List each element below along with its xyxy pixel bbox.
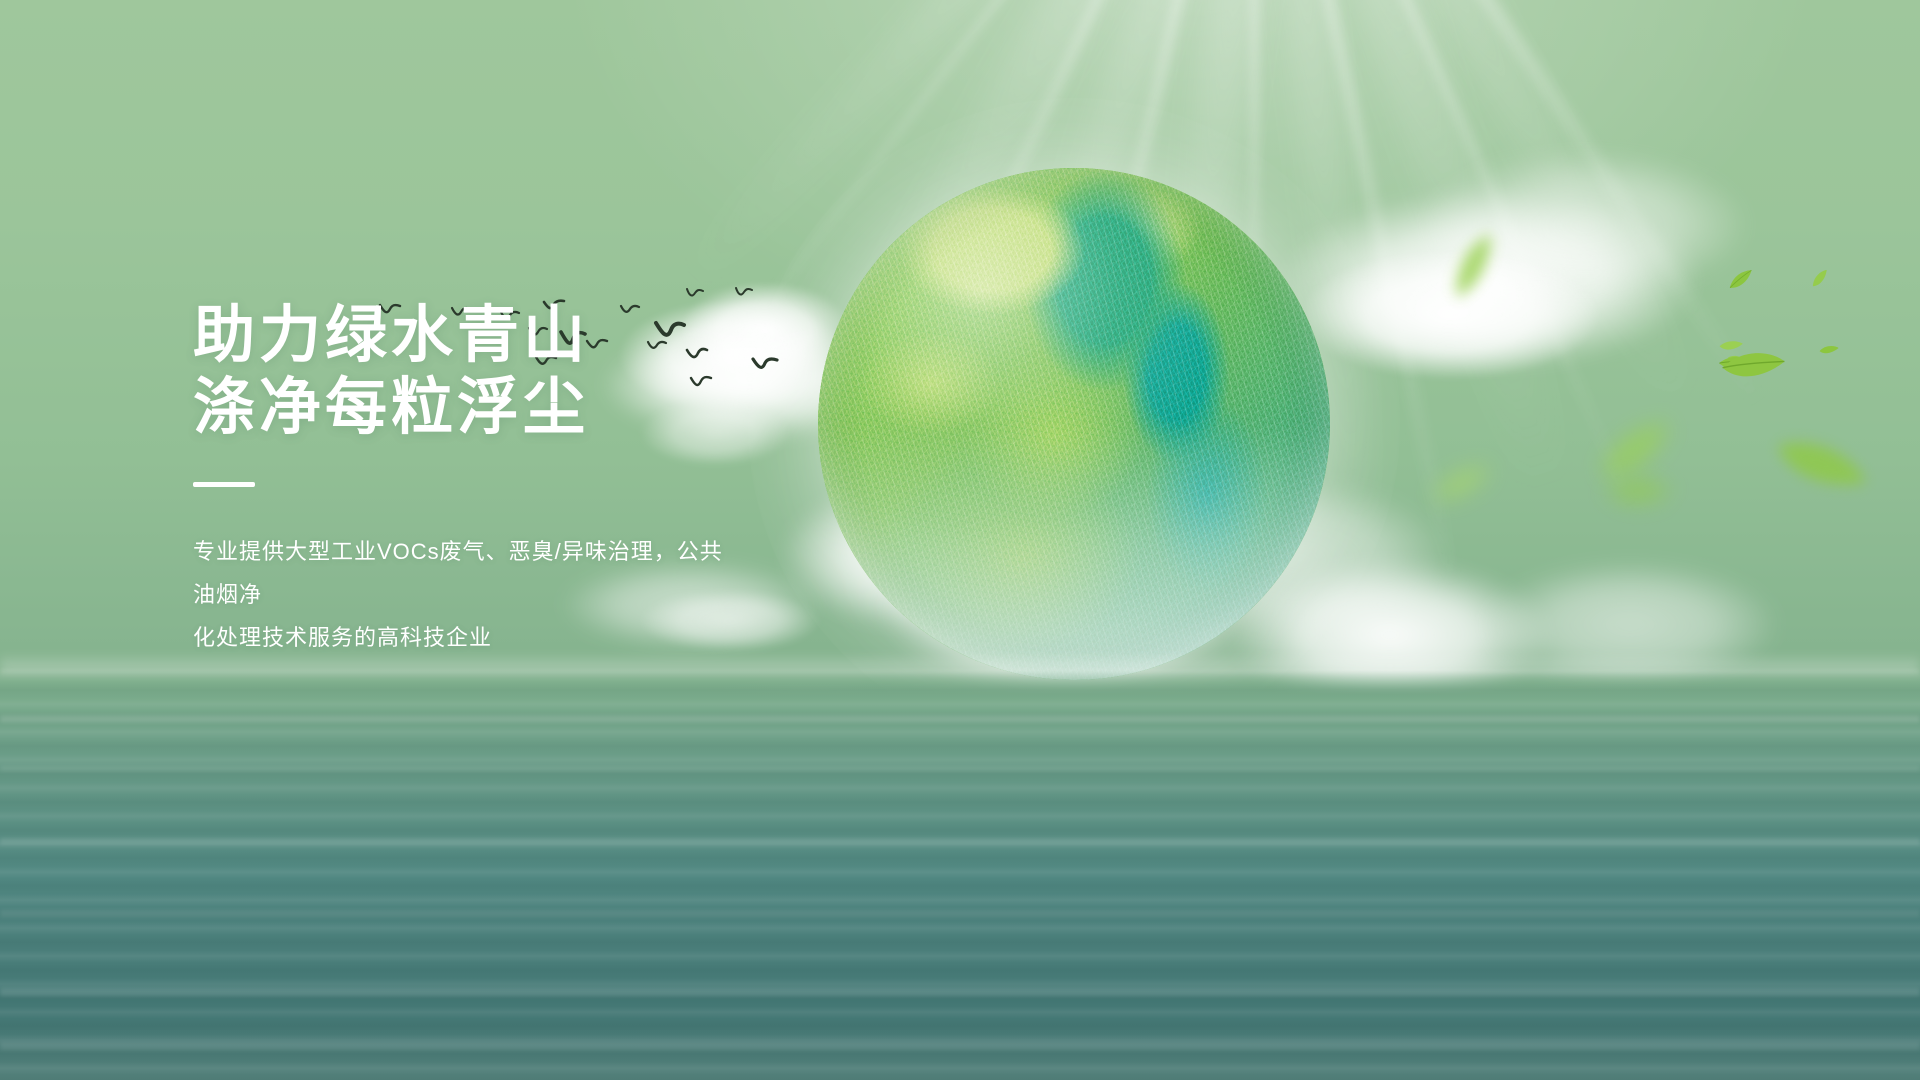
description-line-1: 专业提供大型工业VOCs废气、恶臭/异味治理，公共油烟净 xyxy=(193,531,733,617)
page-title: 助力绿水青山 涤净每粒浮尘 xyxy=(193,300,953,444)
water-surface xyxy=(0,670,1920,1080)
description-line-2: 化处理技术服务的高科技企业 xyxy=(193,617,733,660)
headline-line-1: 助力绿水青山 xyxy=(193,300,953,372)
title-divider xyxy=(193,482,255,487)
headline-line-2: 涤净每粒浮尘 xyxy=(193,372,953,444)
hero-copy-block: 助力绿水青山 涤净每粒浮尘 专业提供大型工业VOCs废气、恶臭/异味治理，公共油… xyxy=(193,300,953,681)
eco-hero-banner: 助力绿水青山 涤净每粒浮尘 专业提供大型工业VOCs废气、恶臭/异味治理，公共油… xyxy=(0,0,1920,1080)
hero-description: 专业提供大型工业VOCs废气、恶臭/异味治理，公共油烟净 化处理技术服务的高科技… xyxy=(193,531,733,660)
